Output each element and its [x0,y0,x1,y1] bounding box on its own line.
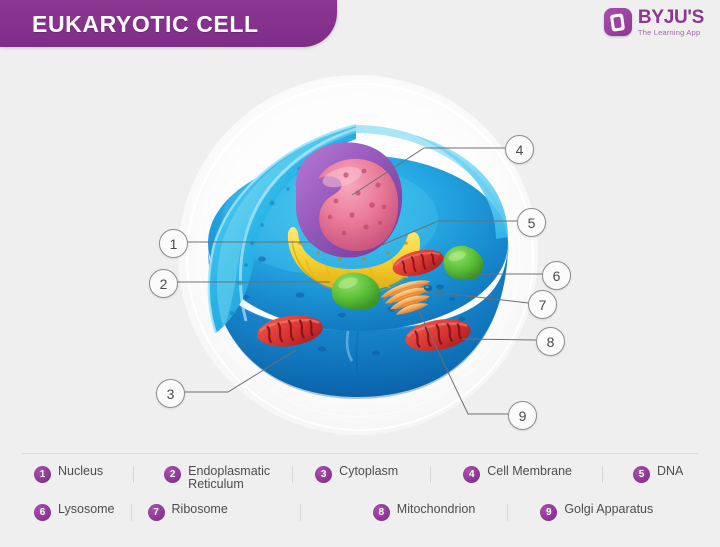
title-banner: EUKARYOTIC CELL [0,0,337,47]
logo-name: BYJU'S [638,8,704,27]
legend-separator [430,466,431,483]
marker-9[interactable]: 9 [508,401,537,430]
legend-item-mitochondrion[interactable]: 8 Mitochondrion [373,503,476,521]
legend-label: Lysosome [58,503,115,516]
legend-separator [133,466,134,483]
legend-number: 5 [633,466,650,483]
marker-7[interactable]: 7 [528,290,557,319]
legend-item-endoplasmic-reticulum[interactable]: 2 Endoplasmatic Reticulum [164,465,270,491]
legend-separator [300,504,301,521]
legend-row-2: 6 Lysosome 7 Ribosome 8 Mitochondrion 9 … [0,503,653,521]
legend-label: Cytoplasm [339,465,398,478]
marker-5[interactable]: 5 [517,208,546,237]
legend-number: 3 [315,466,332,483]
legend-label: DNA [657,465,683,478]
eukaryotic-cell-infographic: EUKARYOTIC CELL BYJU'S The Learning App [0,0,720,547]
legend-label: Mitochondrion [397,503,476,516]
marker-3[interactable]: 3 [156,379,185,408]
legend-number: 1 [34,466,51,483]
legend-divider [22,453,698,454]
legend-label: Golgi Apparatus [564,503,653,516]
legend-separator [602,466,603,483]
cell-diagram-svg [0,47,720,445]
legend-number: 8 [373,504,390,521]
logo-tagline: The Learning App [638,29,704,37]
legend-separator [507,504,508,521]
marker-8[interactable]: 8 [536,327,565,356]
legend-item-lysosome[interactable]: 6 Lysosome [34,503,115,521]
nucleus [296,142,402,257]
legend-label: Ribosome [172,503,228,516]
legend-row-1: 1 Nucleus 2 Endoplasmatic Reticulum 3 Cy… [0,465,683,491]
marker-4[interactable]: 4 [505,135,534,164]
legend-item-nucleus[interactable]: 1 Nucleus [34,465,103,483]
legend-label: Cell Membrane [487,465,572,478]
legend-item-golgi-apparatus[interactable]: 9 Golgi Apparatus [540,503,653,521]
byjus-book-icon [604,8,632,36]
legend-number: 6 [34,504,51,521]
legend-label: Nucleus [58,465,103,478]
page-title: EUKARYOTIC CELL [32,11,259,38]
marker-6[interactable]: 6 [542,261,571,290]
legend-item-dna[interactable]: 5 DNA [633,465,683,483]
legend-item-cytoplasm[interactable]: 3 Cytoplasm [315,465,398,483]
legend-item-ribosome[interactable]: 7 Ribosome [148,503,228,521]
cell-illustration: 1 2 3 4 5 6 7 8 9 [0,47,720,445]
legend-number: 2 [164,466,181,483]
ribosome [424,285,432,291]
legend: 1 Nucleus 2 Endoplasmatic Reticulum 3 Cy… [0,445,720,547]
legend-separator [292,466,293,483]
legend-item-cell-membrane[interactable]: 4 Cell Membrane [463,465,572,483]
legend-separator [131,504,132,521]
legend-number: 7 [148,504,165,521]
legend-label: Endoplasmatic Reticulum [188,465,270,491]
byjus-logo: BYJU'S The Learning App [604,8,704,37]
legend-number: 9 [540,504,557,521]
marker-1[interactable]: 1 [159,229,188,258]
legend-number: 4 [463,466,480,483]
marker-2[interactable]: 2 [149,269,178,298]
